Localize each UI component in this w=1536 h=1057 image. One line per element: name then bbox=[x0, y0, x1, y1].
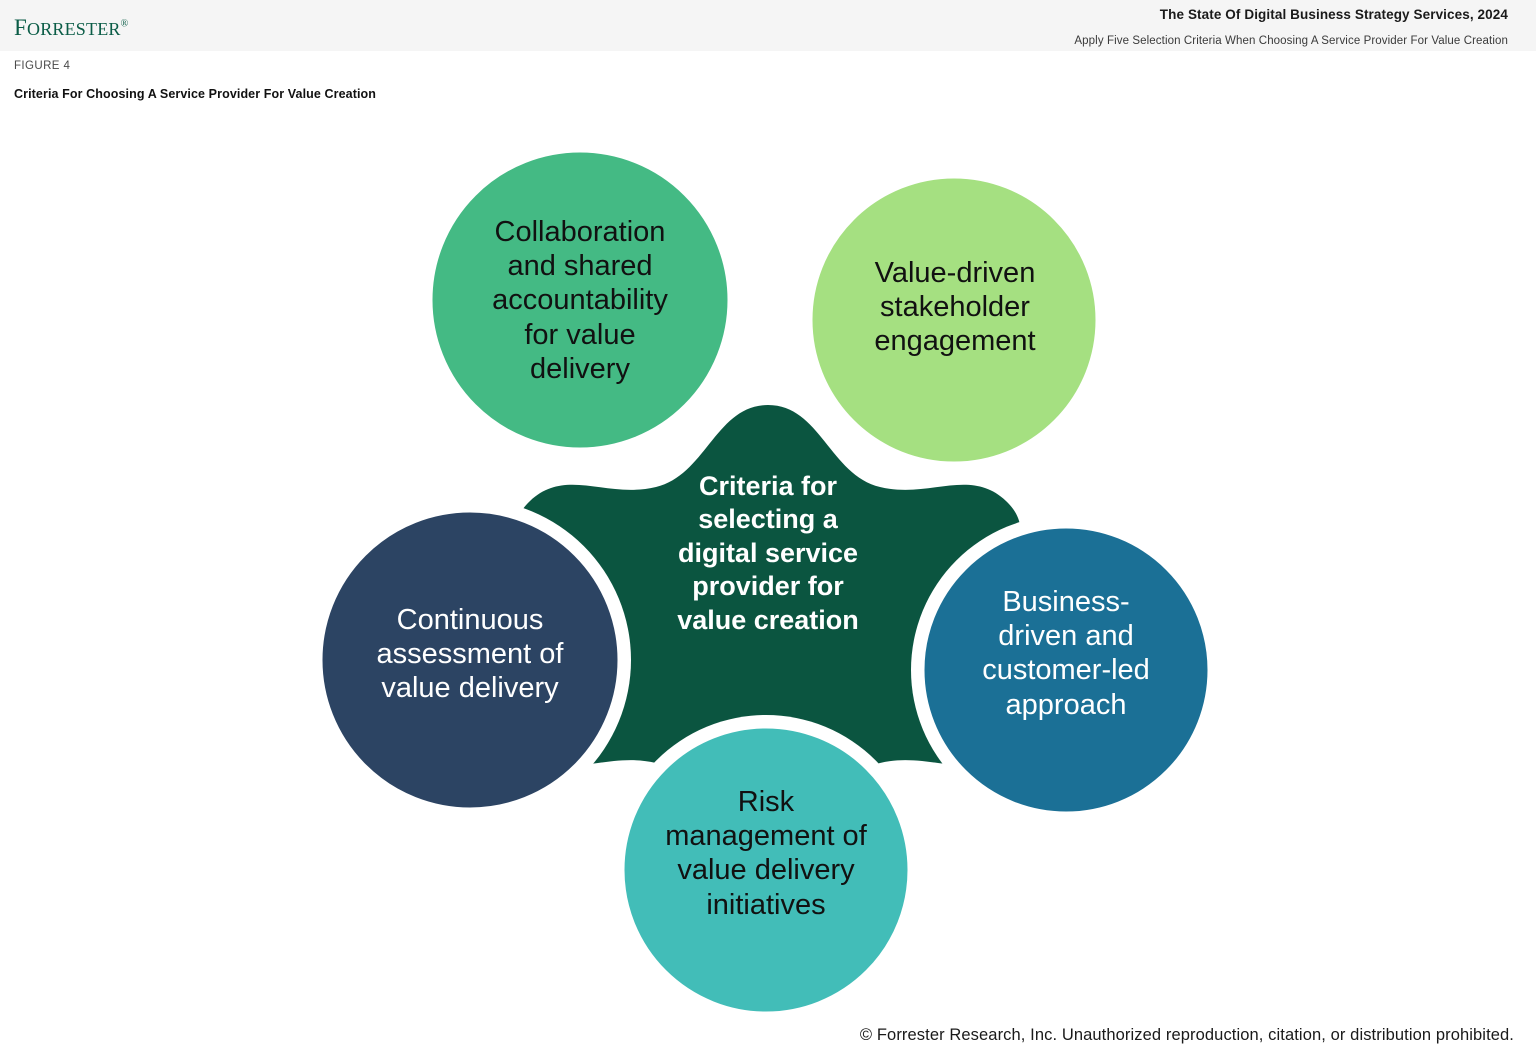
criteria-diagram: Criteria for selecting a digital service… bbox=[0, 115, 1536, 1015]
figure-title: Criteria For Choosing A Service Provider… bbox=[14, 87, 376, 101]
forrester-logo: FORRESTER® bbox=[14, 15, 128, 41]
node-circle-stakeholder[interactable] bbox=[808, 174, 1100, 466]
report-subtitle: Apply Five Selection Criteria When Choos… bbox=[1074, 35, 1508, 47]
figure-label: FIGURE 4 bbox=[14, 60, 70, 72]
report-title: The State Of Digital Business Strategy S… bbox=[1160, 7, 1508, 22]
copyright-notice: © Forrester Research, Inc. Unauthorized … bbox=[860, 1026, 1514, 1045]
node-circle-continuous-assessment[interactable] bbox=[318, 508, 622, 812]
node-circle-collaboration[interactable] bbox=[428, 148, 732, 452]
node-circle-business-driven[interactable] bbox=[920, 524, 1212, 816]
node-circle-risk-management[interactable] bbox=[620, 724, 912, 1015]
